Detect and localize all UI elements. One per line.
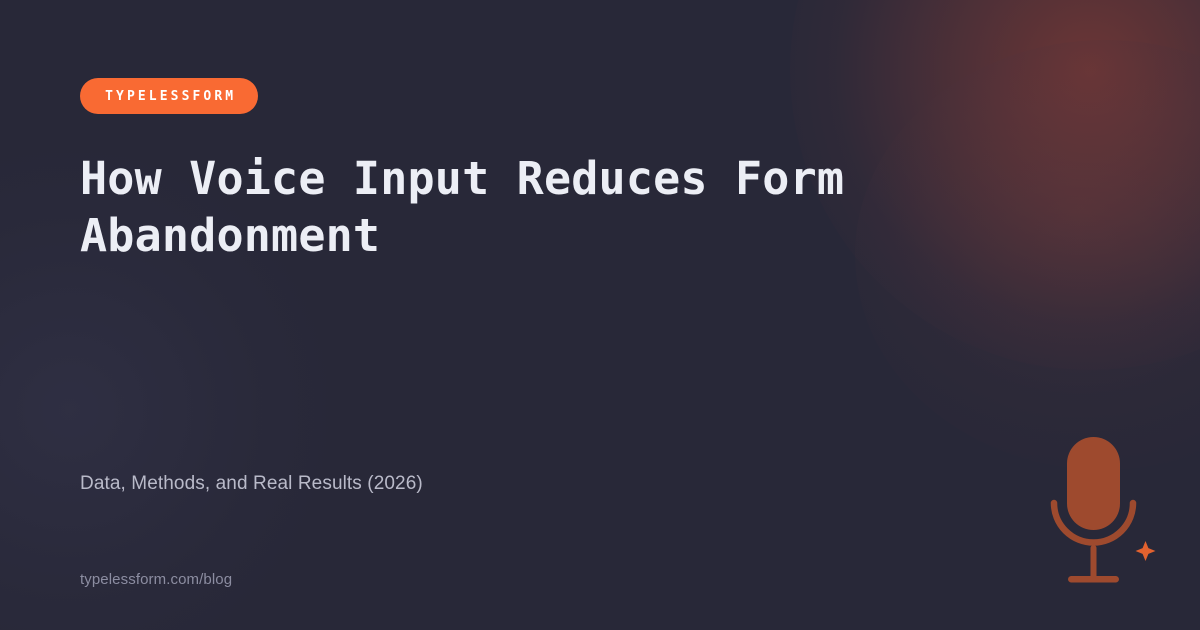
sparkle-icon: [1136, 541, 1156, 561]
blog-og-card: TYPELESSFORM How Voice Input Reduces For…: [0, 0, 1200, 630]
brand-badge: TYPELESSFORM: [80, 78, 258, 114]
footer-url: typelessform.com/blog: [80, 571, 232, 588]
microphone-stem: [1091, 545, 1097, 579]
microphone-base: [1068, 576, 1119, 583]
microphone-icon: [1040, 425, 1200, 600]
microphone-head: [1067, 437, 1120, 530]
subtitle: Data, Methods, and Real Results (2026): [80, 473, 423, 495]
card-content: TYPELESSFORM How Voice Input Reduces For…: [0, 0, 1200, 630]
microphone-artwork: [1040, 425, 1200, 600]
page-title: How Voice Input Reduces Form Abandonment: [80, 150, 1020, 264]
